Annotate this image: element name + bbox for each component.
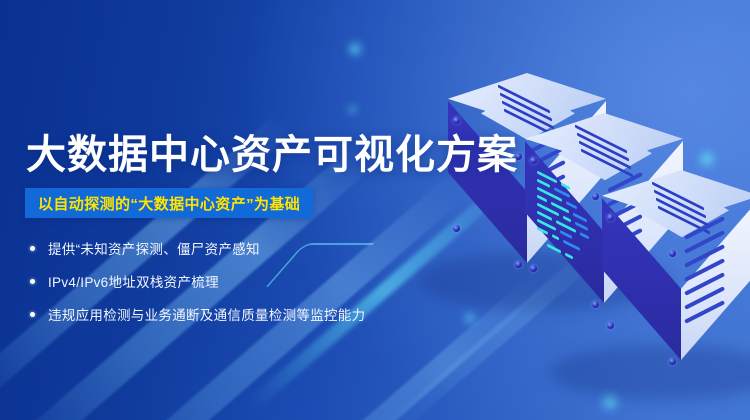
list-item: 违规应用检测与业务通断及通信质量检测等监控能力 — [30, 300, 365, 328]
panel-screw-icon — [607, 214, 614, 221]
panel-screw-icon — [515, 261, 522, 268]
server-illustration — [430, 55, 750, 420]
panel-screw-icon — [669, 250, 676, 257]
bullet-dot-icon — [30, 246, 35, 251]
panel-screw-icon — [530, 157, 537, 164]
code-display — [535, 168, 597, 283]
subtitle-tag: 以自动探测的“大数据中心资产”为基础 — [25, 188, 313, 218]
list-item-label: IPv4/IPv6地址双栈资产梳理 — [48, 271, 219, 291]
subtitle-tag-label: 以自动探测的“大数据中心资产”为基础 — [38, 193, 300, 214]
panel-screw-icon — [592, 301, 599, 308]
list-item: IPv4/IPv6地址双栈资产梳理 — [30, 267, 365, 295]
list-item-label: 违规应用检测与业务通断及通信质量检测等监控能力 — [48, 304, 365, 324]
side-vent-group — [685, 230, 750, 340]
list-item-label: 提供“未知资产探测、僵尸资产感知 — [48, 238, 260, 258]
server-rack-front-right — [602, 170, 750, 400]
page-title: 大数据中心资产可视化方案 — [26, 122, 518, 180]
panel-screw-icon — [592, 193, 599, 200]
panel-screw-icon — [530, 265, 537, 272]
bullet-dot-icon — [30, 312, 35, 317]
feature-list: 提供“未知资产探测、僵尸资产感知 IPv4/IPv6地址双栈资产梳理 违规应用检… — [30, 234, 365, 328]
panel-screw-icon — [669, 358, 676, 365]
marketing-banner: 大数据中心资产可视化方案 以自动探测的“大数据中心资产”为基础 提供“未知资产探… — [0, 0, 750, 420]
bullet-dot-icon — [30, 279, 35, 284]
panel-screw-icon — [607, 322, 614, 329]
list-item: 提供“未知资产探测、僵尸资产感知 — [30, 234, 365, 262]
banner-text-content: 大数据中心资产可视化方案 以自动探测的“大数据中心资产”为基础 提供“未知资产探… — [0, 0, 470, 420]
